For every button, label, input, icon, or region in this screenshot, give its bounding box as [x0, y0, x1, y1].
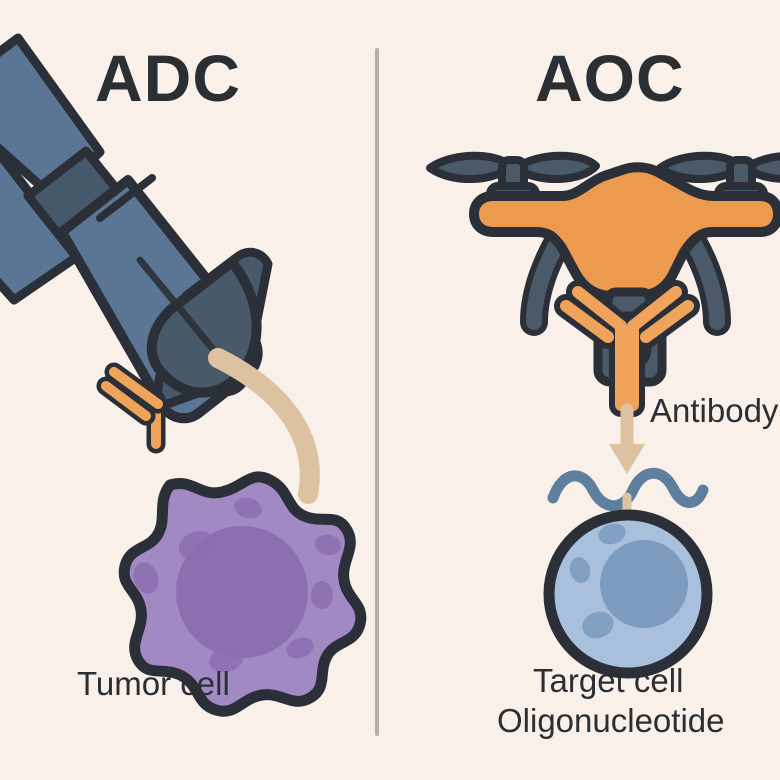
target-cell-icon [549, 515, 707, 673]
antibody-label: Antibody [650, 392, 778, 430]
oligonucleotide-label: Oligonucleotide [497, 702, 725, 740]
target-cell-label: Target cell [533, 662, 683, 700]
down-arrow-icon [609, 410, 645, 474]
illustration-canvas: ADC AOC [0, 0, 780, 780]
tumor-cell-label: Tumor cell [77, 665, 230, 703]
